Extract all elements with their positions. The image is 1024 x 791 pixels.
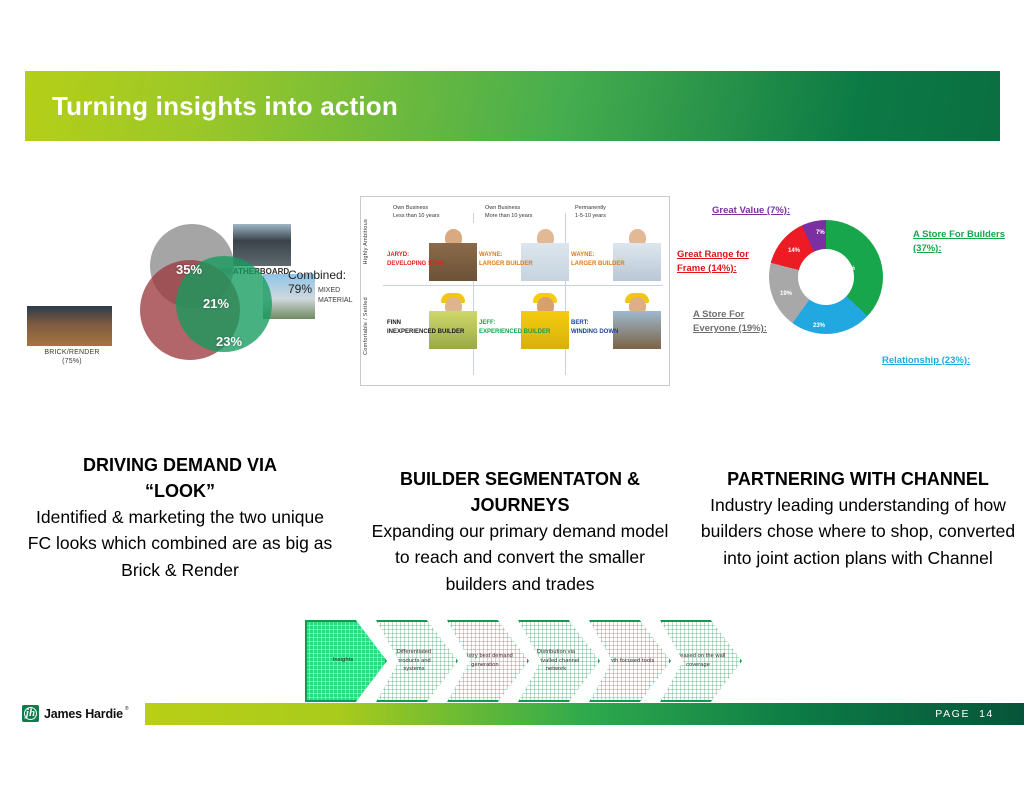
caption-driving-demand: DRIVING DEMAND VIA “LOOK” Identified & m… xyxy=(24,452,336,583)
channel-donut-chart: 37% 23% 19% 14% 7% A Store For Builders … xyxy=(670,196,1015,388)
venn-diagram-panel: BRICK/RENDER (75%) WEATHERBOARD MIXED MA… xyxy=(20,196,360,386)
caption-1-heading-line2: “LOOK” xyxy=(145,481,215,501)
caption-3-body: Industry leading understanding of how bu… xyxy=(692,492,1024,571)
persona-name-jeff: JEFF: xyxy=(479,320,496,326)
caption-1-heading: DRIVING DEMAND VIA “LOOK” xyxy=(24,452,336,504)
donut-legend-great-value: Great Value (7%): xyxy=(712,204,790,218)
brick-render-label: BRICK/RENDER (75%) xyxy=(32,348,112,366)
donut-legend-everyone-text: A Store For Everyone (19%): xyxy=(693,309,767,334)
page-title: Turning insights into action xyxy=(25,91,398,122)
process-flow: Insights Differentiated products and sys… xyxy=(305,620,745,702)
donut-value-great-value: 7% xyxy=(816,230,825,236)
process-step-label-6: Increased on the wall coverage xyxy=(670,652,726,670)
donut-value-builders: 37% xyxy=(843,266,855,272)
column-header-permanently: Permanently 1-5-10 years xyxy=(575,205,667,221)
persona-name-bert: BERT: xyxy=(571,320,589,326)
caption-2-body: Expanding our primary demand model to re… xyxy=(364,518,676,597)
caption-2-heading-line2: JOURNEYS xyxy=(470,495,569,515)
donut-legend-relationship-text: Relationship (23%): xyxy=(882,355,970,366)
caption-1-heading-line1: DRIVING DEMAND VIA xyxy=(83,455,277,475)
persona-label-jaryd: JARYD: DEVELOPING STAR xyxy=(387,251,444,269)
footer-gradient-bar: PAGE 14 xyxy=(145,703,1024,725)
persona-name-finn: FINN xyxy=(387,320,401,326)
process-step-label-4: Distribution via unrivalled channel netw… xyxy=(528,648,584,675)
venn-value-21: 21% xyxy=(203,296,229,311)
persona-photo-bert xyxy=(613,291,661,349)
y-axis-label-settled: Comfortable / Settled xyxy=(363,297,377,355)
process-step-label-3: Industry best demand generation xyxy=(457,652,513,670)
venn-value-35: 35% xyxy=(176,262,202,277)
y-axis-label-ambitious: Highly Ambitious xyxy=(363,219,377,264)
column-header-own-business-gt10: Own Business More than 10 years xyxy=(485,205,577,221)
brick-render-thumbnail xyxy=(27,306,112,346)
logo-glyph: jh xyxy=(26,708,35,719)
caption-2-heading: BUILDER SEGMENTATON & JOURNEYS xyxy=(364,466,676,518)
persona-title-bert: WINDING DOWN xyxy=(571,329,618,335)
james-hardie-logo: jh James Hardie ® xyxy=(22,705,129,722)
caption-2-heading-line1: BUILDER SEGMENTATON & xyxy=(400,469,640,489)
donut-value-frame: 14% xyxy=(788,248,800,254)
persona-cell-bert: BERT: WINDING DOWN xyxy=(569,291,661,353)
process-step-growth-tools[interactable]: Growth focused tools xyxy=(589,620,671,702)
persona-title-wayne-2: LARGER BUILDER xyxy=(571,261,625,267)
donut-legend-builders: A Store For Builders (37%): xyxy=(913,228,1013,257)
james-hardie-mark-icon: jh xyxy=(22,705,39,722)
persona-name-jaryd: JARYD: xyxy=(387,252,409,258)
persona-title-jaryd: DEVELOPING STAR xyxy=(387,261,444,267)
donut-legend-relationship: Relationship (23%): xyxy=(882,354,970,368)
page-indicator: PAGE 14 xyxy=(935,703,994,725)
persona-cell-wayne-1: WAYNE: LARGER BUILDER xyxy=(477,223,569,285)
mixed-material-line2: MATERIAL xyxy=(318,296,353,306)
slide-canvas: Turning insights into action BRICK/RENDE… xyxy=(0,0,1024,791)
visuals-row: BRICK/RENDER (75%) WEATHERBOARD MIXED MA… xyxy=(0,196,1024,396)
donut-legend-builders-text: A Store For Builders (37%): xyxy=(913,229,1005,254)
registered-trademark-icon: ® xyxy=(125,706,129,712)
page-label: PAGE xyxy=(935,708,970,720)
persona-cell-jeff: JEFF: EXPERIENCED BUILDER xyxy=(477,291,569,353)
persona-cell-wayne-2: WAYNE: LARGER BUILDER xyxy=(569,223,661,285)
donut-value-everyone: 19% xyxy=(780,291,792,297)
donut-value-relationship: 23% xyxy=(813,323,825,329)
process-step-differentiated-products[interactable]: Differentiated products and systems xyxy=(376,620,458,702)
caption-partnering-channel: PARTNERING WITH CHANNEL Industry leading… xyxy=(692,466,1024,571)
venn-value-23: 23% xyxy=(216,334,242,349)
caption-3-heading-line1: PARTNERING WITH CHANNEL xyxy=(727,469,989,489)
logo-wordmark: James Hardie xyxy=(44,707,123,721)
donut-ring xyxy=(769,220,883,334)
persona-title-finn: INEXPERIENCED BUILDER xyxy=(387,329,464,335)
persona-cell-finn: FINN INEXPERIENCED BUILDER xyxy=(385,291,477,353)
process-step-channel-network[interactable]: Distribution via unrivalled channel netw… xyxy=(518,620,600,702)
process-step-insights[interactable]: Insights xyxy=(305,620,387,702)
slide-title-bar: Turning insights into action xyxy=(25,71,1000,141)
persona-label-wayne-2: WAYNE: LARGER BUILDER xyxy=(571,251,625,269)
brick-render-label-text: BRICK/RENDER xyxy=(32,348,112,357)
persona-name-wayne-1: WAYNE: xyxy=(479,252,502,258)
persona-label-finn: FINN INEXPERIENCED BUILDER xyxy=(387,319,464,337)
builder-segmentation-matrix: Highly Ambitious Comfortable / Settled O… xyxy=(360,196,670,386)
combined-share-label: Combined: 79% xyxy=(288,268,360,296)
caption-1-body: Identified & marketing the two unique FC… xyxy=(24,504,336,583)
donut-legend-great-value-text: Great Value (7%): xyxy=(712,205,790,216)
process-step-demand-generation[interactable]: Industry best demand generation xyxy=(447,620,529,702)
segmentation-grid: Own Business Less than 10 years Own Busi… xyxy=(379,199,667,383)
persona-label-jeff: JEFF: EXPERIENCED BUILDER xyxy=(479,319,550,337)
process-step-label-2: Differentiated products and systems xyxy=(386,648,442,675)
brick-render-label-sub: (75%) xyxy=(32,357,112,366)
persona-title-wayne-1: LARGER BUILDER xyxy=(479,261,533,267)
persona-cell-jaryd: JARYD: DEVELOPING STAR xyxy=(385,223,477,285)
persona-title-jeff: EXPERIENCED BUILDER xyxy=(479,329,550,335)
caption-builder-segmentation: BUILDER SEGMENTATON & JOURNEYS Expanding… xyxy=(364,466,676,597)
page-number: 14 xyxy=(979,708,994,720)
persona-name-wayne-2: WAYNE: xyxy=(571,252,594,258)
segmentation-y-axis: Highly Ambitious Comfortable / Settled xyxy=(363,213,377,371)
caption-3-heading: PARTNERING WITH CHANNEL xyxy=(692,466,1024,492)
venn-circles: 35% 21% 23% xyxy=(140,224,260,359)
persona-body-icon xyxy=(613,311,661,349)
grid-divider-horizontal xyxy=(383,285,663,286)
persona-label-wayne-1: WAYNE: LARGER BUILDER xyxy=(479,251,533,269)
donut-legend-frame: Great Range for Frame (14%): xyxy=(677,248,777,277)
column-header-own-business-lt10: Own Business Less than 10 years xyxy=(393,205,485,221)
process-step-label-5: Growth focused tools xyxy=(599,657,655,666)
process-step-label-1: Insights xyxy=(315,656,371,665)
process-step-wall-coverage[interactable]: Increased on the wall coverage xyxy=(660,620,742,702)
donut-legend-frame-text: Great Range for Frame (14%): xyxy=(677,249,749,274)
slide-footer: PAGE 14 jh James Hardie ® xyxy=(0,703,1024,725)
donut-legend-everyone: A Store For Everyone (19%): xyxy=(693,308,785,337)
persona-label-bert: BERT: WINDING DOWN xyxy=(571,319,618,337)
